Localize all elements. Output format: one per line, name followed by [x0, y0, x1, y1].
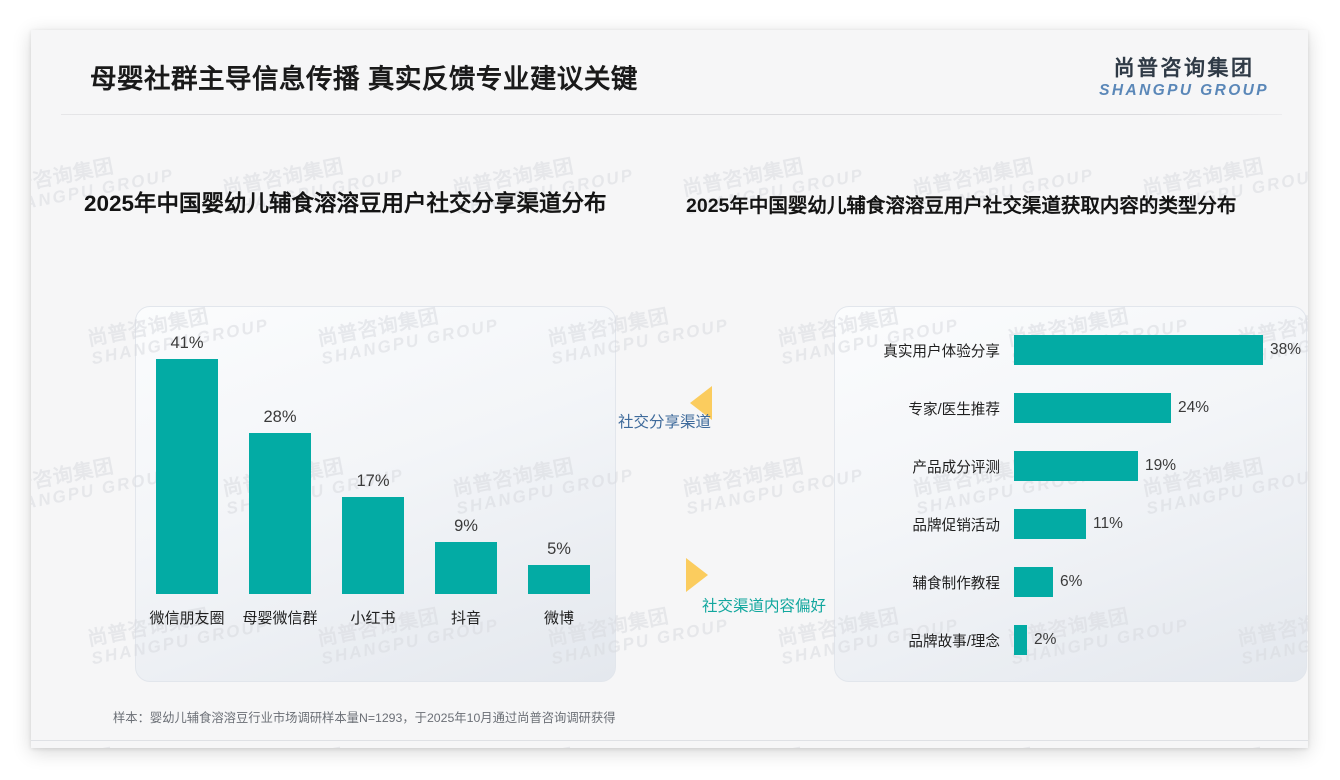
bar-category-label: 小红书 — [323, 607, 423, 628]
brand-logo: 尚普咨询集团 SHANGPU GROUP — [1099, 58, 1269, 99]
left-chart-title: 2025年中国婴幼儿辅食溶溶豆用户社交分享渠道分布 — [84, 186, 607, 218]
bar-category-label: 品牌故事/理念 — [834, 630, 1014, 651]
vertical-bar-group[interactable]: 5%微博 — [515, 306, 603, 680]
horizontal-bar[interactable] — [1014, 625, 1027, 655]
right-chart-title: 2025年中国婴幼儿辅食溶溶豆用户社交渠道获取内容的类型分布 — [686, 189, 1236, 218]
bar-value-label: 17% — [329, 472, 417, 491]
horizontal-bar[interactable] — [1014, 567, 1053, 597]
bar-value-label: 5% — [515, 540, 603, 559]
bar-value-label: 19% — [1145, 457, 1176, 475]
vertical-bar-group[interactable]: 41%微信朋友圈 — [143, 306, 231, 680]
horizontal-bar[interactable] — [1014, 509, 1086, 539]
watermark-text: 尚普咨询集团SHANGPU GROUP — [681, 736, 866, 748]
bar-and-value: 38% — [1014, 335, 1301, 365]
bar-value-label: 24% — [1178, 399, 1209, 417]
bar-and-value: 24% — [1014, 393, 1209, 423]
annotation-bottom-label: 社交渠道内容偏好 — [702, 594, 826, 616]
horizontal-bar-row[interactable]: 真实用户体验分享38% — [834, 335, 1305, 365]
horizontal-bar-row[interactable]: 专家/医生推荐24% — [834, 393, 1305, 423]
vertical-bar[interactable] — [156, 359, 218, 594]
footer-divider — [31, 740, 1308, 741]
watermark-text: 尚普咨询集团SHANGPU GROUP — [1141, 736, 1308, 748]
horizontal-bar[interactable] — [1014, 335, 1263, 365]
horizontal-bar-row[interactable]: 品牌故事/理念2% — [834, 625, 1305, 655]
screenshot-stage: 尚普咨询集团SHANGPU GROUP尚普咨询集团SHANGPU GROUP尚普… — [0, 0, 1340, 780]
bar-value-label: 38% — [1270, 341, 1301, 359]
bar-category-label: 辅食制作教程 — [834, 572, 1014, 593]
vertical-bar-group[interactable]: 28%母婴微信群 — [236, 306, 324, 680]
watermark-text: 尚普咨询集团SHANGPU GROUP — [911, 736, 1096, 748]
content-type-bar-chart: 真实用户体验分享38%专家/医生推荐24%产品成分评测19%品牌促销活动11%辅… — [834, 306, 1305, 680]
slide-canvas: 尚普咨询集团SHANGPU GROUP尚普咨询集团SHANGPU GROUP尚普… — [31, 30, 1308, 748]
bar-and-value: 2% — [1014, 625, 1056, 655]
header-divider — [61, 114, 1282, 115]
horizontal-bar-row[interactable]: 品牌促销活动11% — [834, 509, 1305, 539]
triangle-right-icon — [686, 558, 708, 592]
bar-value-label: 11% — [1093, 515, 1123, 533]
bar-category-label: 专家/医生推荐 — [834, 398, 1014, 419]
bar-value-label: 41% — [143, 334, 231, 353]
bar-value-label: 28% — [236, 408, 324, 427]
vertical-bar[interactable] — [342, 497, 404, 594]
bar-category-label: 产品成分评测 — [834, 456, 1014, 477]
bar-and-value: 6% — [1014, 567, 1082, 597]
bar-category-label: 微博 — [509, 607, 609, 628]
watermark-text: 尚普咨询集团SHANGPU GROUP — [31, 736, 176, 748]
brand-name-en: SHANGPU GROUP — [1099, 83, 1269, 99]
horizontal-bar-row[interactable]: 辅食制作教程6% — [834, 567, 1305, 597]
brand-name-cn: 尚普咨询集团 — [1099, 58, 1269, 79]
bar-category-label: 真实用户体验分享 — [834, 340, 1014, 361]
bar-category-label: 母婴微信群 — [230, 607, 330, 628]
horizontal-bar[interactable] — [1014, 393, 1171, 423]
annotation-top-label: 社交分享渠道 — [618, 410, 711, 432]
page-title: 母婴社群主导信息传播 真实反馈专业建议关键 — [90, 57, 638, 96]
horizontal-bar[interactable] — [1014, 451, 1138, 481]
social-share-channel-bar-chart: 41%微信朋友圈28%母婴微信群17%小红书9%抖音5%微博 — [135, 306, 614, 680]
vertical-bar[interactable] — [528, 565, 590, 594]
horizontal-bar-row[interactable]: 产品成分评测19% — [834, 451, 1305, 481]
bar-and-value: 19% — [1014, 451, 1176, 481]
bar-and-value: 11% — [1014, 509, 1123, 539]
bar-category-label: 微信朋友圈 — [137, 607, 237, 628]
vertical-bar-group[interactable]: 17%小红书 — [329, 306, 417, 680]
bar-category-label: 抖音 — [416, 607, 516, 628]
bar-value-label: 2% — [1034, 631, 1056, 649]
watermark-text: 尚普咨询集团SHANGPU GROUP — [451, 736, 636, 748]
vertical-bar[interactable] — [249, 433, 311, 594]
vertical-bar[interactable] — [435, 542, 497, 594]
bar-category-label: 品牌促销活动 — [834, 514, 1014, 535]
vertical-bar-group[interactable]: 9%抖音 — [422, 306, 510, 680]
bar-value-label: 6% — [1060, 573, 1082, 591]
bar-value-label: 9% — [422, 517, 510, 536]
watermark-text: 尚普咨询集团SHANGPU GROUP — [221, 736, 406, 748]
slide-header: 母婴社群主导信息传播 真实反馈专业建议关键 尚普咨询集团 SHANGPU GRO… — [31, 30, 1308, 114]
sample-note: 样本：婴幼儿辅食溶溶豆行业市场调研样本量N=1293，于2025年10月通过尚普… — [113, 708, 616, 726]
